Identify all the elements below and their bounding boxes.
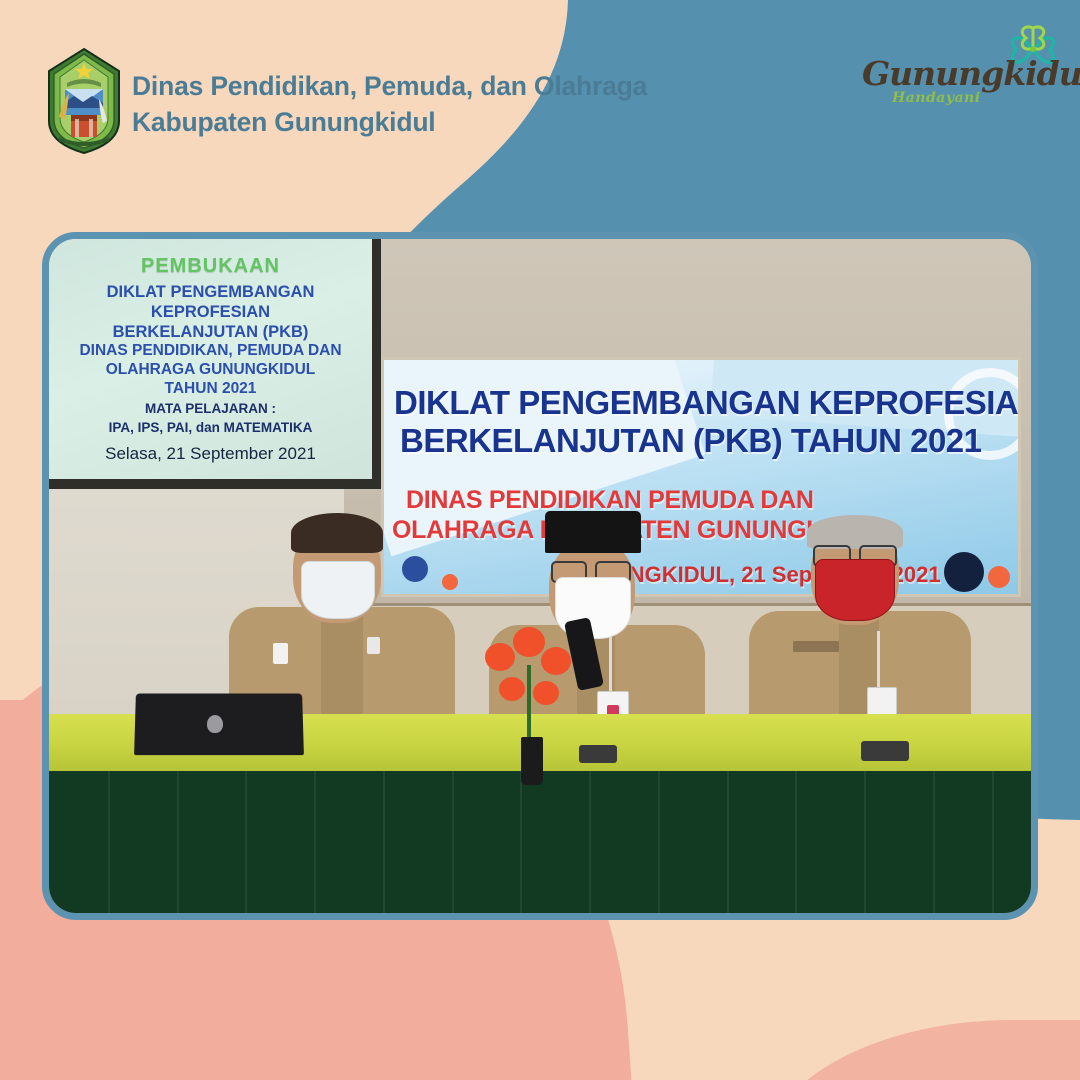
slide-heading: PEMBUKAAN (57, 255, 364, 278)
slide-subjects: IPA, IPS, PAI, dan MATEMATIKA (57, 420, 364, 437)
slide-line5: TAHUN 2021 (57, 380, 364, 399)
event-banner: DIKLAT PENGEMBANGAN KEPROFESIAN BERKELAN… (381, 357, 1021, 597)
projection-screen: PEMBUKAAN DIKLAT PENGEMBANGAN KEPROFESIA… (49, 239, 381, 489)
banner-line4: OLAHRAGA KABUPATEN GUNUNGKIDUL (392, 516, 1021, 545)
page-title: Dinas Pendidikan, Pemuda, dan Olahraga K… (132, 69, 652, 140)
dept-title-line2: Kabupaten Gunungkidul (132, 105, 652, 141)
event-photo: PEMBUKAAN DIKLAT PENGEMBANGAN KEPROFESIA… (42, 232, 1038, 920)
banner-dot (944, 552, 984, 592)
table-skirt (49, 771, 1031, 913)
slide-date: Selasa, 21 September 2021 (57, 444, 364, 464)
gunungkidul-brand-logo: Gunungkidul Handayani (862, 28, 1062, 120)
gunungkidul-coat-of-arms-icon (45, 47, 123, 155)
dept-title-line1: Dinas Pendidikan, Pemuda, dan Olahraga (132, 69, 652, 105)
banner-dot (402, 556, 428, 582)
banner-dot (442, 574, 458, 590)
peci-cap-icon (545, 511, 641, 553)
brand-wordmark: Gunungkidul (862, 54, 1042, 93)
slide-subject-label: MATA PELAJARAN : (57, 401, 364, 418)
laptop (134, 693, 304, 755)
mobile-phone (861, 741, 909, 761)
slide-line3: DINAS PENDIDIKAN, PEMUDA DAN (57, 342, 364, 361)
poster-canvas: Dinas Pendidikan, Pemuda, dan Olahraga K… (0, 0, 1080, 1080)
banner-dot (988, 566, 1010, 588)
slide-line2: BERKELANJUTAN (PKB) (57, 322, 364, 342)
mobile-phone (579, 745, 617, 763)
banner-line3: DINAS PENDIDIKAN PEMUDA DAN (406, 484, 1021, 517)
slide-line1: DIKLAT PENGEMBANGAN KEPROFESIAN (57, 282, 364, 322)
apple-logo-icon (207, 715, 223, 733)
flower-vase (477, 625, 587, 785)
banner-line2: BERKELANJUTAN (PKB) TAHUN 2021 (400, 422, 1021, 460)
poster-footer: @dikpora_gk pendidikan.gunungkidulkab.go… (0, 940, 1080, 1080)
poster-header: Dinas Pendidikan, Pemuda, dan Olahraga K… (0, 0, 1080, 210)
slide-line4: OLAHRAGA GUNUNGKIDUL (57, 361, 364, 380)
banner-line1: DIKLAT PENGEMBANGAN KEPROFESIAN (394, 382, 1021, 424)
brand-tagline: Handayani (892, 90, 981, 106)
